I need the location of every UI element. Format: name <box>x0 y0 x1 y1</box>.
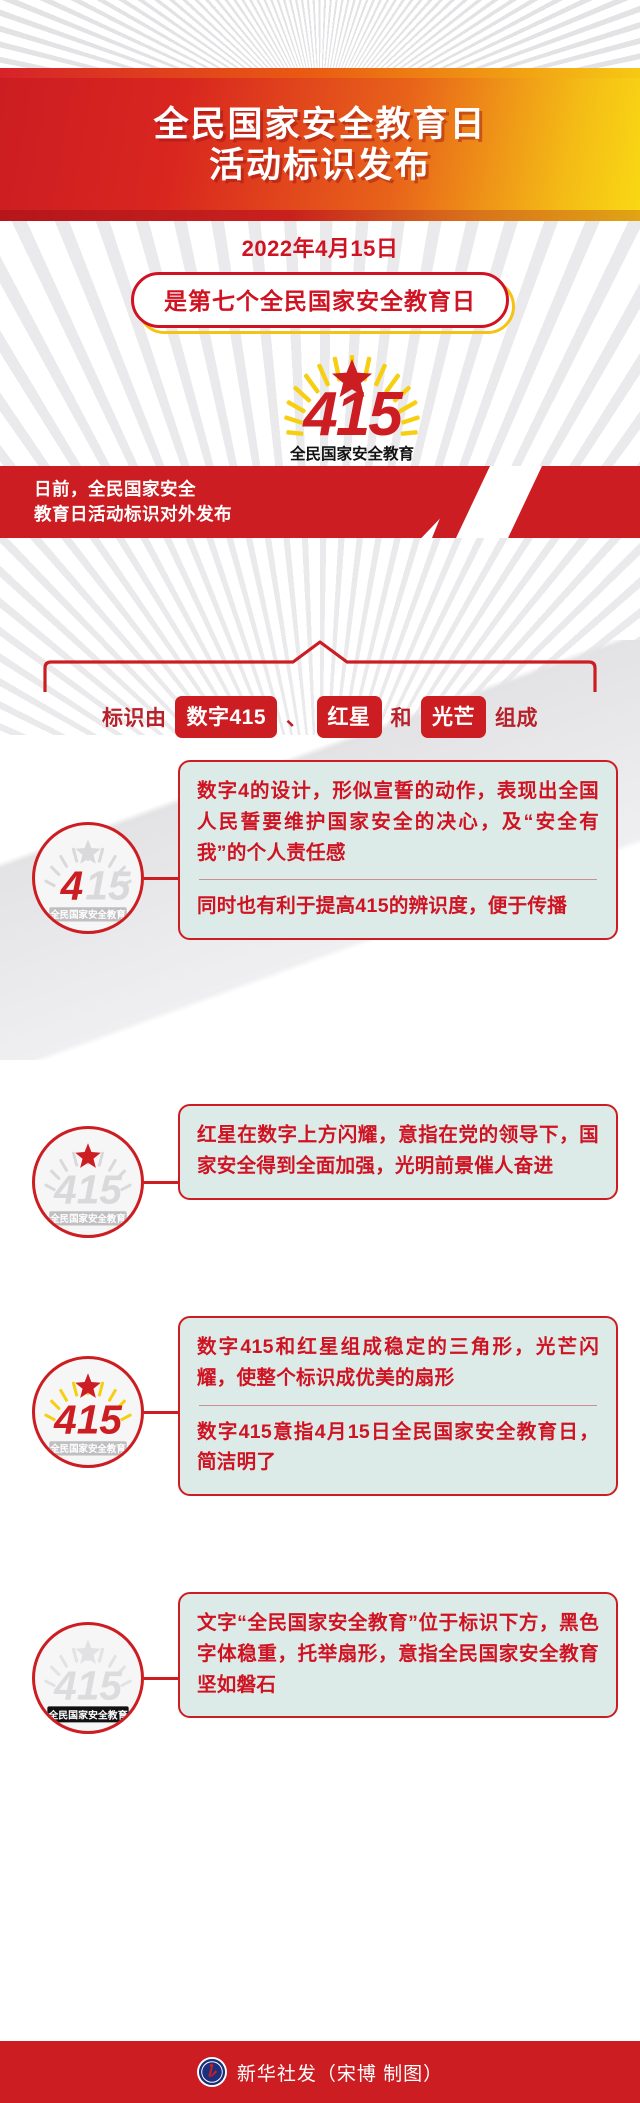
security-education-logo: 415 全民国家安全教育 <box>272 343 432 465</box>
logo-badge-number-4: 4 15 全民国家安全教育 <box>32 822 144 934</box>
logo-badge-full-logo: 415 全民国家安全教育 <box>32 1356 144 1468</box>
page-title: 全民国家安全教育日 活动标识发布 <box>153 104 486 187</box>
badge-number-4: 4 <box>60 863 84 909</box>
logo-svg: 415 全民国家安全教育 <box>272 343 432 465</box>
svg-text:全民国家安全教育: 全民国家安全教育 <box>47 1709 127 1722</box>
card-paragraph: 文字“全民国家安全教育”位于标识下方，黑色字体稳重，托举扇形，意指全民国家安全教… <box>197 1608 599 1700</box>
svg-text:全民国家安全教育: 全民国家安全教育 <box>49 1213 126 1225</box>
explanation-card: 数字4的设计，形似宣誓的动作，表现出全国人民誓要维护国家安全的决心，及“安全有我… <box>178 760 618 940</box>
composition-row: 标识由 数字415 、 红星 和 光芒 组成 <box>0 696 640 738</box>
header-banner: 全民国家安全教育日 活动标识发布 <box>0 68 640 221</box>
logo-caption: 全民国家安全教育 <box>289 444 414 463</box>
list-item: 415 全民国家安全教育 红星在数字上方闪耀，意指在党的领导下，国家安全得到全面… <box>0 1104 640 1302</box>
page-title-line-1: 全民国家安全教育日 <box>153 105 486 144</box>
composition-tag-star: 红星 <box>317 696 382 738</box>
composition-tag-rays: 光芒 <box>421 696 486 738</box>
svg-text:全民国家安全教育: 全民国家安全教育 <box>49 909 126 921</box>
composition-tag-number: 数字415 <box>175 696 277 738</box>
logo-badge-red-star: 415 全民国家安全教育 <box>32 1126 144 1238</box>
composition-tail: 组成 <box>495 702 538 732</box>
header-top-gradient-bar <box>0 68 640 78</box>
release-text-line-1: 日前，全民国家安全 <box>34 477 490 502</box>
header-bottom-gradient-bar <box>0 210 640 221</box>
composition-separator: 、 <box>286 702 308 732</box>
badge-connector-line <box>144 1677 180 1680</box>
card-paragraph: 数字415意指4月15日全民国家安全教育日，简洁明了 <box>197 1417 599 1479</box>
list-item: 415 全民国家安全教育 数字415和红星组成稳定的三角形，光芒闪耀，使整个标识… <box>0 1316 640 1578</box>
badge-connector-line <box>144 1411 180 1414</box>
footer-credit: 新华社发（宋博 制图） <box>237 2059 443 2086</box>
event-pill-label: 是第七个全民国家安全教育日 <box>131 272 509 328</box>
card-paragraph: 数字415和红星组成稳定的三角形，光芒闪耀，使整个标识成优美的扇形 <box>197 1332 599 1394</box>
explanation-card: 文字“全民国家安全教育”位于标识下方，黑色字体稳重，托举扇形，意指全民国家安全教… <box>178 1592 618 1718</box>
card-paragraph: 同时也有利于提高415的辨识度，便于传播 <box>197 891 599 922</box>
xinhua-agency-logo-icon <box>197 2057 227 2087</box>
card-paragraph: 红星在数字上方闪耀，意指在党的领导下，国家安全得到全面加强，光明前景催人奋进 <box>197 1120 599 1182</box>
svg-text:415: 415 <box>53 1397 123 1443</box>
explanation-card-list: 4 15 全民国家安全教育 数字4的设计，形似宣誓的动作，表现出全国人民誓要维护… <box>0 760 640 1836</box>
composition-lead: 标识由 <box>102 702 167 732</box>
card-paragraph: 数字4的设计，形似宣誓的动作，表现出全国人民誓要维护国家安全的决心，及“安全有我… <box>197 776 599 868</box>
composition-bracket <box>42 640 598 692</box>
badge-connector-line <box>144 877 180 880</box>
svg-text:415: 415 <box>53 1663 123 1709</box>
list-item: 415 全民国家安全教育 文字“全民国家安全教育”位于标识下方，黑色字体稳重，托… <box>0 1592 640 1822</box>
top-ray-strip <box>0 0 640 70</box>
event-pill-wrapper: 是第七个全民国家安全教育日 <box>0 272 640 328</box>
page-title-line-2: 活动标识发布 <box>209 146 431 185</box>
composition-conjunction: 和 <box>391 702 413 732</box>
explanation-card: 数字415和红星组成稳定的三角形，光芒闪耀，使整个标识成优美的扇形 数字415意… <box>178 1316 618 1496</box>
svg-text:全民国家安全教育: 全民国家安全教育 <box>49 1443 126 1455</box>
card-divider <box>199 1405 597 1406</box>
release-banner: 日前，全民国家安全 教育日活动标识对外发布 <box>0 466 490 538</box>
release-text-line-2: 教育日活动标识对外发布 <box>34 502 490 527</box>
list-item: 4 15 全民国家安全教育 数字4的设计，形似宣誓的动作，表现出全国人民誓要维护… <box>0 760 640 1090</box>
logo-badge-caption-text: 415 全民国家安全教育 <box>32 1622 144 1734</box>
card-divider <box>199 879 597 880</box>
logo-number: 415 <box>301 380 404 449</box>
badge-number-15: 15 <box>85 863 132 909</box>
footer-bar: 新华社发（宋博 制图） <box>0 2041 640 2103</box>
svg-text:415: 415 <box>53 1167 123 1213</box>
explanation-card: 红星在数字上方闪耀，意指在党的领导下，国家安全得到全面加强，光明前景催人奋进 <box>178 1104 618 1200</box>
event-date: 2022年4月15日 <box>0 231 640 263</box>
badge-connector-line <box>144 1181 180 1184</box>
